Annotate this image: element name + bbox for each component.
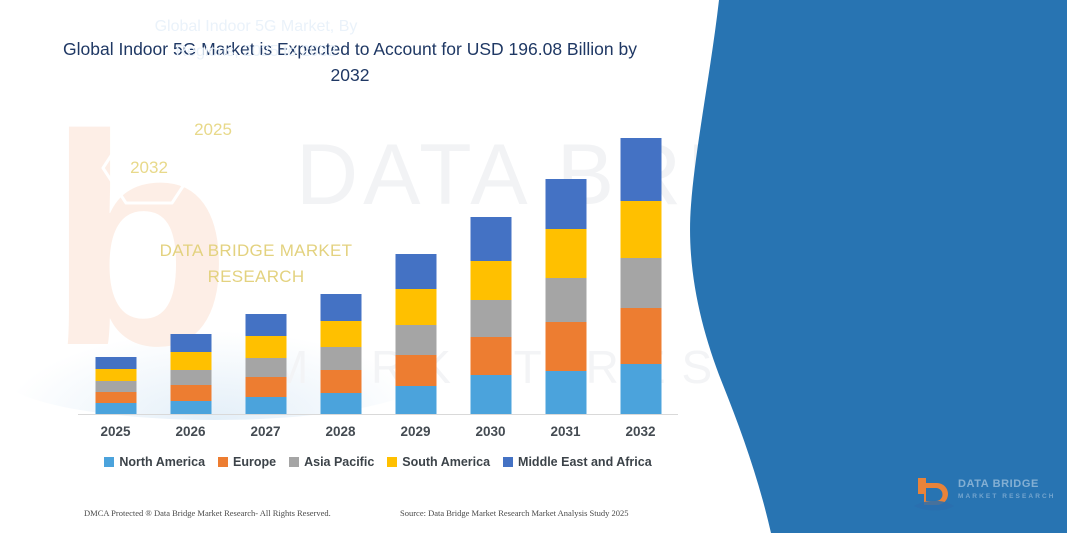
logo-b-icon — [912, 475, 956, 520]
brand-name: DATA BRIDGE MARKET RESEARCH — [127, 238, 385, 290]
hexagon-badge-2025: 2025 — [168, 96, 258, 166]
brand-line-1: DATA BRIDGE MARKET — [127, 238, 385, 264]
logo-wordmark: DATA BRIDGE — [958, 478, 1039, 490]
databridge-logo: DATA BRIDGE MARKET RESEARCH — [912, 473, 1054, 517]
brand-panel-content: Global Indoor 5G Market, By Regions, 202… — [0, 0, 1067, 533]
hexagon-badges: 2032 2025 — [100, 96, 400, 208]
brand-line-2: RESEARCH — [127, 264, 385, 290]
panel-title: Global Indoor 5G Market, By Regions, 202… — [127, 14, 385, 64]
logo-subtitle: MARKET RESEARCH — [958, 493, 1056, 500]
infographic-canvas: b DATA BRIDGE MARKET RESEARCH Global Ind… — [0, 0, 1067, 533]
hexagon-label-2025: 2025 — [168, 120, 258, 140]
